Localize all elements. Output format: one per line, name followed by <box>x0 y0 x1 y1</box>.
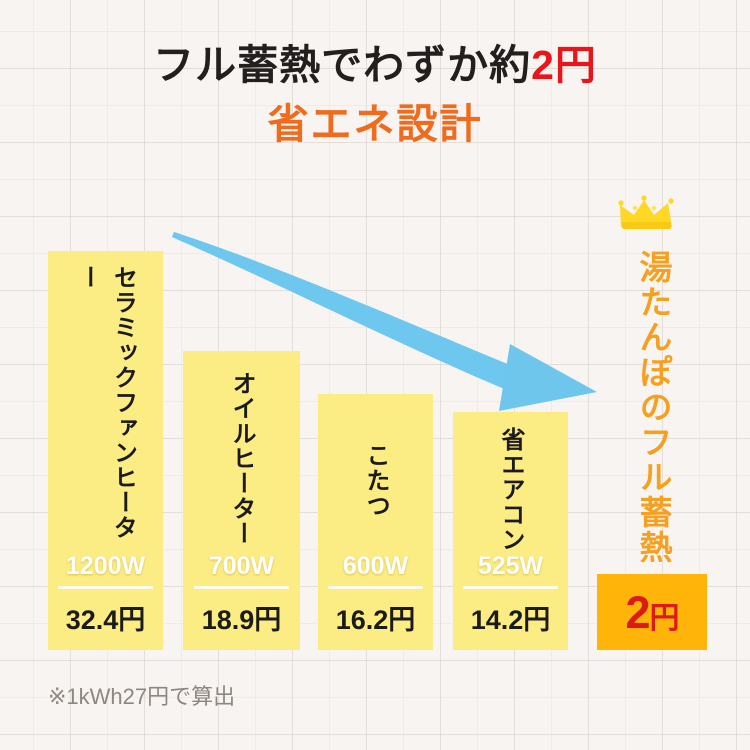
bar-label-name: オイルヒーター <box>224 365 259 552</box>
footnote: ※1kWh27円で算出 <box>48 679 235 711</box>
bar-eco-air-conditioner: 省エアコン 525W 14.2円 <box>453 412 568 650</box>
winner-price-number: 2 <box>625 587 649 638</box>
bar-label-price: 32.4円 <box>66 598 146 637</box>
crown-icon <box>618 195 684 231</box>
headline-line-1: フル蓄熱でわずか約2円 <box>0 40 750 90</box>
bar-label-power: 1200W <box>66 552 145 581</box>
headline-line-2: 省エネ設計 <box>0 98 750 151</box>
bar-label-name: こたつ <box>358 408 393 552</box>
page-title: フル蓄熱でわずか約2円 省エネ設計 <box>0 40 750 151</box>
headline-line-1-prefix: フル蓄熱でわずか約 <box>153 42 531 88</box>
bar-label-price: 14.2円 <box>471 598 551 637</box>
bar-divider <box>58 586 152 589</box>
bar-divider <box>463 586 557 589</box>
bar-label-power: 600W <box>343 552 408 581</box>
winner-price-box: 2円 <box>597 574 707 650</box>
bar-divider <box>328 586 422 589</box>
winner-price: 2円 <box>625 590 678 635</box>
winner-column: 湯たんぽのフル蓄熱 2円 <box>588 195 718 572</box>
bar-divider <box>194 586 290 589</box>
bar-label-name: 省エアコン <box>493 426 528 552</box>
winner-price-unit: 円 <box>650 602 679 635</box>
bar-ceramic-fan-heater: セラミックファンヒーター 1200W 32.4円 <box>48 251 163 650</box>
bar-kotatsu: こたつ 600W 16.2円 <box>318 394 433 650</box>
bar-label-price: 18.9円 <box>202 598 282 637</box>
bar-oil-heater: オイルヒーター 700W 18.9円 <box>183 351 300 650</box>
bar-label-price: 16.2円 <box>336 598 416 637</box>
bar-label-name: セラミックファンヒーター <box>71 265 141 552</box>
winner-label: 湯たんぽのフル蓄熱 <box>629 242 677 572</box>
bar-label-power: 525W <box>478 552 543 581</box>
headline-price-accent: 2円 <box>531 42 597 88</box>
bar-label-power: 700W <box>209 552 274 581</box>
